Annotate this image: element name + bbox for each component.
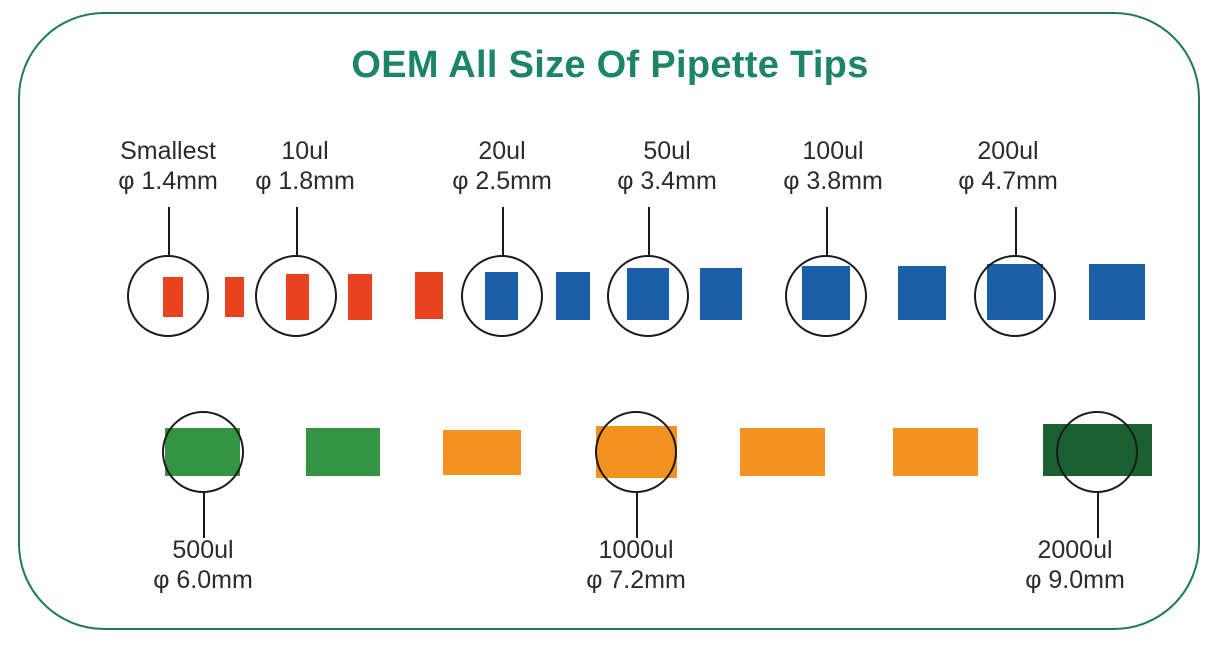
leader-line-top-3 (648, 207, 650, 256)
callout-circle-top-2 (461, 255, 543, 337)
tip-row2-swatch-4 (740, 428, 825, 476)
tip-label-top-5-diameter: φ 4.7mm (868, 166, 1148, 196)
tip-row1-swatch-6 (556, 272, 590, 320)
leader-line-top-2 (502, 207, 504, 256)
tip-row1-swatch-12 (1089, 264, 1145, 320)
tip-row1-swatch-8 (700, 268, 742, 320)
leader-line-bottom-0 (203, 492, 205, 538)
callout-circle-top-5 (974, 255, 1056, 337)
leader-line-top-1 (296, 207, 298, 256)
tip-label-bottom-0: 500ulφ 6.0mm (63, 535, 343, 595)
leader-line-bottom-2 (1097, 492, 1099, 538)
tip-row1-swatch-10 (898, 266, 946, 320)
callout-circle-top-0 (127, 255, 209, 337)
tip-label-top-5: 200ulφ 4.7mm (868, 136, 1148, 196)
callout-circle-bottom-1 (595, 411, 677, 493)
tip-label-bottom-1: 1000ulφ 7.2mm (496, 535, 776, 595)
tip-row2-swatch-5 (893, 428, 978, 476)
tip-label-bottom-2: 2000ulφ 9.0mm (935, 535, 1215, 595)
tip-row2-swatch-2 (443, 430, 521, 475)
tip-row1-swatch-1 (225, 277, 244, 317)
tip-row1-swatch-4 (415, 272, 443, 319)
pipette-tip-size-chart: OEM All Size Of Pipette Tips Smallestφ 1… (0, 0, 1220, 646)
callout-circle-bottom-2 (1056, 411, 1138, 493)
tip-label-bottom-1-volume: 1000ul (496, 535, 776, 565)
callout-circle-top-1 (255, 255, 337, 337)
leader-line-bottom-1 (636, 492, 638, 538)
tip-label-bottom-1-diameter: φ 7.2mm (496, 565, 776, 595)
tip-label-top-5-volume: 200ul (868, 136, 1148, 166)
tip-row1-swatch-3 (348, 274, 372, 320)
callout-circle-top-4 (785, 255, 867, 337)
tip-label-bottom-0-diameter: φ 6.0mm (63, 565, 343, 595)
leader-line-top-5 (1015, 207, 1017, 256)
leader-line-top-4 (826, 207, 828, 256)
tip-label-bottom-0-volume: 500ul (63, 535, 343, 565)
tip-label-bottom-2-volume: 2000ul (935, 535, 1215, 565)
leader-line-top-0 (168, 207, 170, 256)
callout-circle-top-3 (607, 255, 689, 337)
tip-label-bottom-2-diameter: φ 9.0mm (935, 565, 1215, 595)
tip-row2-swatch-1 (306, 428, 380, 476)
callout-circle-bottom-0 (162, 411, 244, 493)
page-title: OEM All Size Of Pipette Tips (0, 44, 1220, 87)
